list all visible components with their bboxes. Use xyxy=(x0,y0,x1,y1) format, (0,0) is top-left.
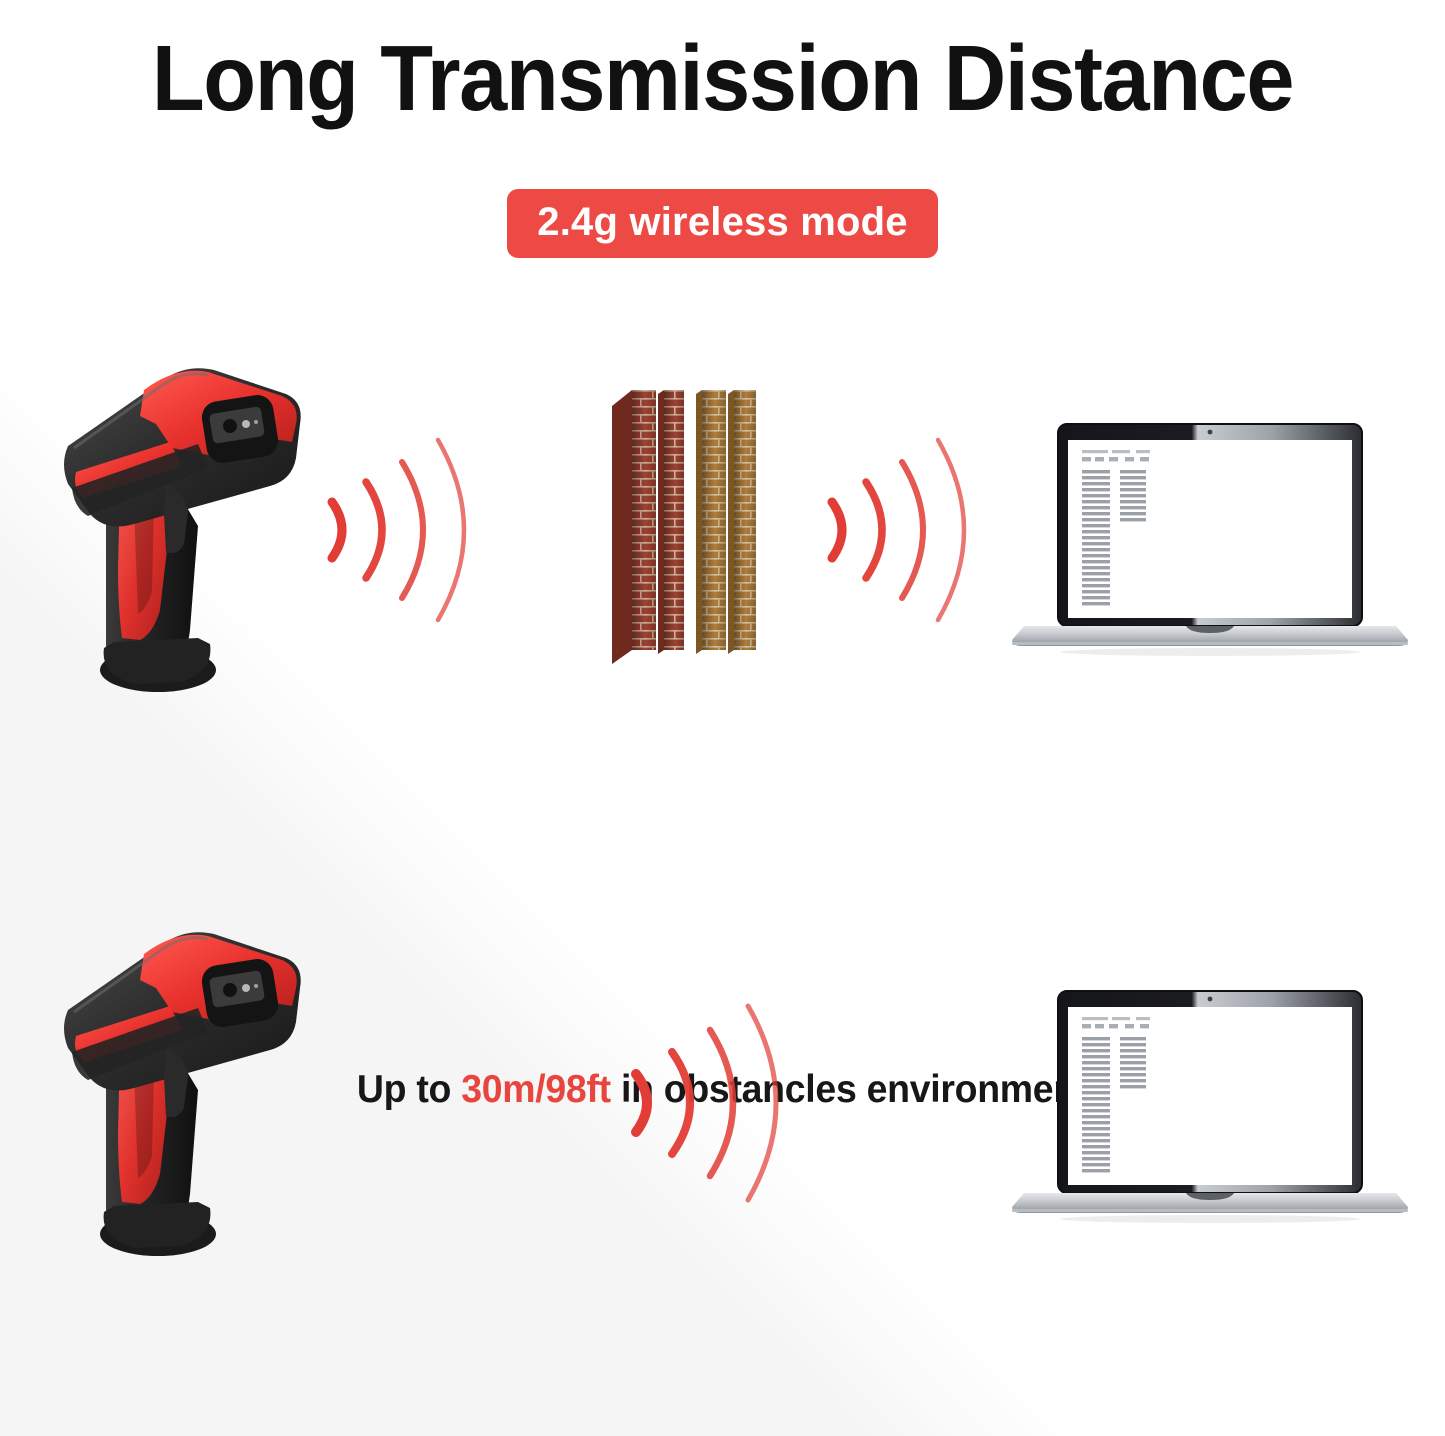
barcode-scanner-icon xyxy=(48,338,308,708)
laptop-receiver xyxy=(1010,985,1410,1225)
brick-wall-barrier xyxy=(608,382,780,672)
signal-waves-center xyxy=(620,988,800,1218)
barcode-scanner-icon xyxy=(48,902,308,1272)
brick-panel-tan-2 xyxy=(728,390,756,654)
scanner-window-icon xyxy=(200,393,281,465)
section-barrier-free: Up to 100m/328ft in barrier free environ… xyxy=(0,880,1445,1380)
laptop-receiver xyxy=(1010,418,1410,658)
wireless-mode-badge: 2.4g wireless mode xyxy=(507,189,937,258)
section-obstacles: Up to 30m/98ft in obstancles environment xyxy=(0,320,1445,820)
brick-panel-red-1 xyxy=(612,390,656,664)
brick-panel-tan-1 xyxy=(696,390,726,654)
scanner-window-icon xyxy=(200,957,281,1030)
laptop-screen-col-left xyxy=(1082,470,1110,605)
laptop-screen-col-right xyxy=(1120,470,1146,521)
brick-panel-red-2 xyxy=(658,390,684,654)
signal-waves-right xyxy=(818,420,988,640)
laptop-screen-col-right xyxy=(1120,1037,1146,1088)
infographic-page: Long Transmission Distance 2.4g wireless… xyxy=(0,0,1445,1436)
page-title: Long Transmission Distance xyxy=(51,32,1395,125)
mode-badge-container: 2.4g wireless mode xyxy=(0,189,1445,258)
signal-waves-left xyxy=(318,420,488,640)
laptop-screen-col-left xyxy=(1082,1037,1110,1172)
